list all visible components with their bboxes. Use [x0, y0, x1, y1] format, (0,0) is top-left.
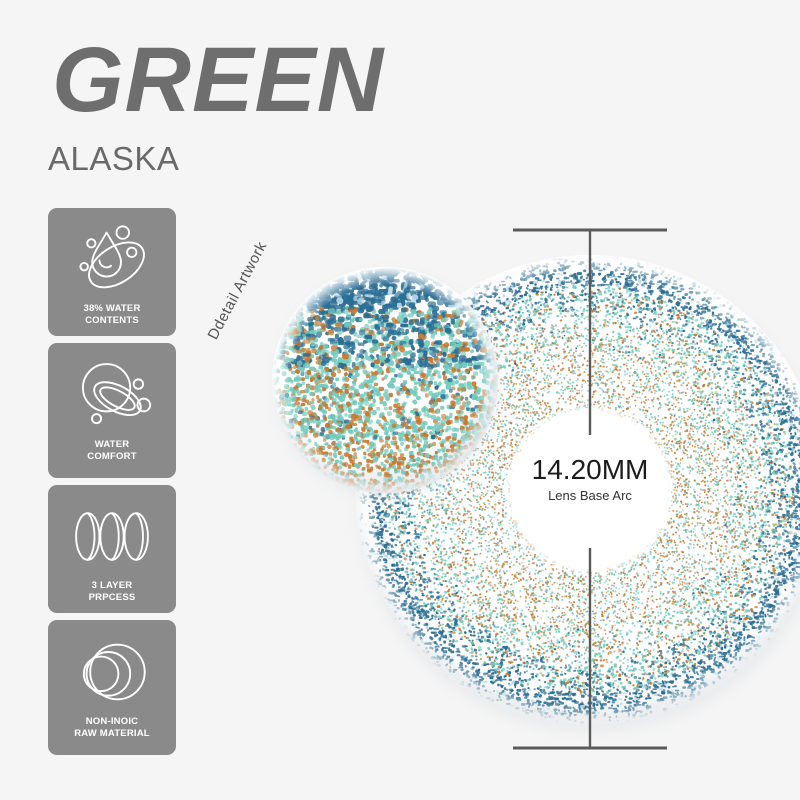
detail-circle-shadow — [276, 274, 500, 498]
page-subtitle: ALASKA — [48, 142, 179, 175]
feature-box-non-ionic[interactable]: NON-INOIC RAW MATERIAL — [48, 620, 176, 755]
feature-box-three-layer[interactable]: 3 LAYER PRPCESS — [48, 485, 176, 613]
feature-label: WATER COMFORT — [83, 439, 140, 472]
lens-base-arc-caption: 14.20MM Lens Base Arc — [470, 455, 710, 505]
product-detail-canvas: GREEN ALASKA 38% WATER CONTENTS — [0, 0, 800, 800]
page-title: GREEN — [52, 34, 384, 126]
feature-label: 38% WATER CONTENTS — [79, 303, 144, 336]
detail-artwork-caption: Ddetail Artwork — [204, 193, 294, 342]
feature-label: NON-INOIC RAW MATERIAL — [70, 716, 154, 749]
feature-box-water-comfort[interactable]: WATER COMFORT — [48, 343, 176, 478]
lens-comfort-bubbles-icon — [66, 355, 158, 435]
feature-label: 3 LAYER PRPCESS — [85, 580, 140, 613]
base-arc-value: 14.20MM — [470, 455, 710, 485]
water-drop-lens-icon — [66, 220, 158, 299]
detail-speckle-pattern — [268, 263, 504, 497]
detail-circle-disc — [272, 267, 498, 493]
base-arc-label: Lens Base Arc — [470, 487, 710, 505]
feature-box-water-contents[interactable]: 38% WATER CONTENTS — [48, 208, 176, 336]
three-layer-lens-icon — [66, 497, 158, 576]
concentric-circles-icon — [66, 632, 158, 712]
